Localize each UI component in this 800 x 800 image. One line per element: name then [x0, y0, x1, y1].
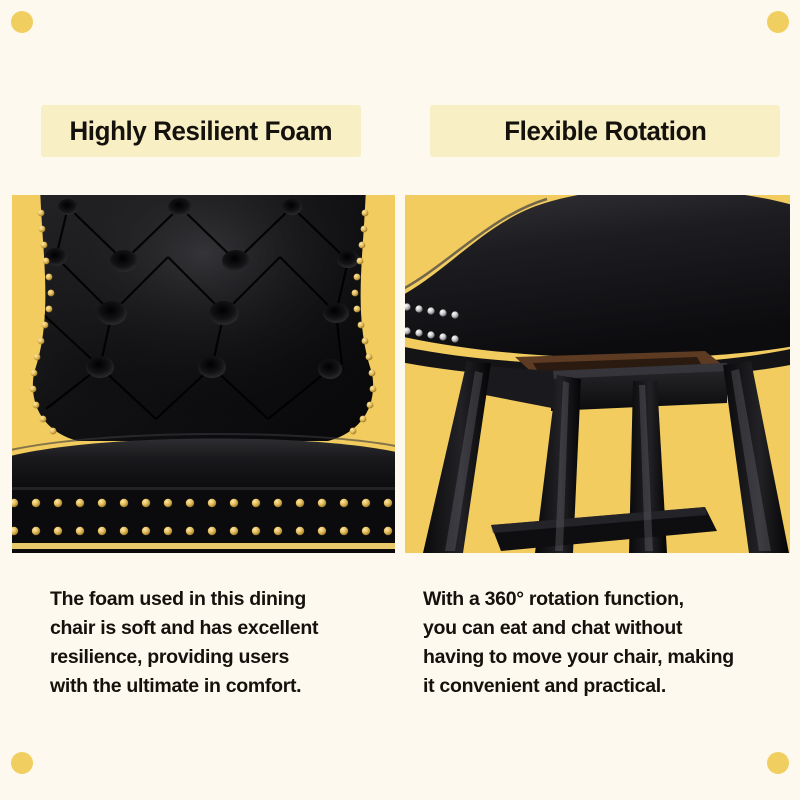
swivel-base-illustration: [405, 195, 790, 553]
panel-highly-resilient-foam: Highly Resilient Foam: [12, 0, 395, 800]
panel-title-right: Flexible Rotation: [504, 116, 706, 147]
panel-body-right: With a 360° rotation function, you can e…: [423, 585, 798, 701]
panel-title-banner-left: Highly Resilient Foam: [41, 105, 361, 157]
chair-back-illustration: [12, 195, 395, 553]
product-photo-rotation: [405, 195, 790, 553]
panel-title-left: Highly Resilient Foam: [70, 116, 333, 147]
panel-title-banner-right: Flexible Rotation: [430, 105, 780, 157]
infographic-page: Highly Resilient Foam: [0, 0, 800, 800]
panel-body-left: The foam used in this dining chair is so…: [50, 585, 390, 701]
product-photo-foam: [12, 195, 395, 553]
panel-flexible-rotation: Flexible Rotation: [405, 0, 790, 800]
